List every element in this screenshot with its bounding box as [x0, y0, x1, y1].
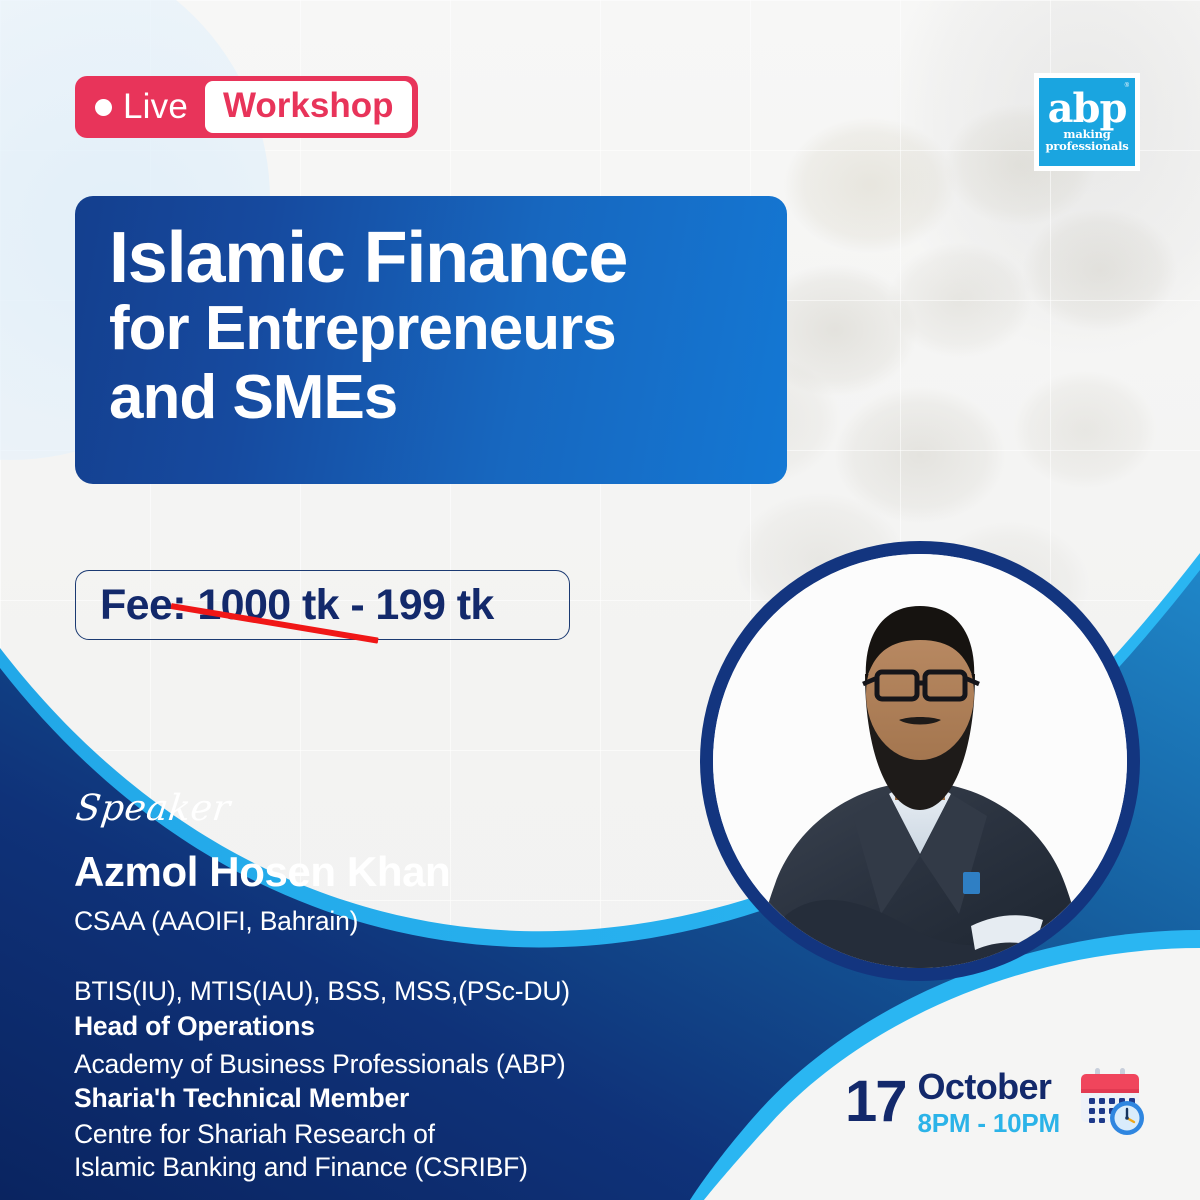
fee-text: Fee: 1000 tk - 199 tk — [100, 581, 494, 630]
speaker-section-label: Speaker — [73, 788, 232, 829]
title-line-2: for Entrepreneurs — [109, 294, 753, 363]
speaker-photo — [713, 554, 1127, 968]
title-line-3: and SMEs — [109, 363, 753, 432]
event-month: October — [918, 1069, 1061, 1105]
speaker-photo-ring — [700, 541, 1140, 981]
speaker-credential-3: Academy of Business Professionals (ABP) — [74, 1048, 566, 1081]
event-time: 8PM - 10PM — [918, 1110, 1061, 1136]
live-label: Live — [123, 87, 205, 127]
calendar-clock-icon — [1073, 1063, 1147, 1142]
abp-logo-mark: abp — [1048, 91, 1127, 128]
live-dot-icon — [95, 99, 112, 116]
abp-logo: ® abp making professionals — [1034, 73, 1140, 171]
poster-canvas: Live Workshop ® abp making professionals… — [0, 0, 1200, 1200]
live-workshop-badge: Live Workshop — [75, 76, 418, 138]
registered-trademark-icon: ® — [1125, 83, 1129, 89]
speaker-credential-5: Centre for Shariah Research of Islamic B… — [74, 1118, 528, 1185]
speaker-credential-1: BTIS(IU), MTIS(IAU), BSS, MSS,(PSc-DU) — [74, 975, 570, 1008]
speaker-name: Azmol Hosen Khan — [74, 848, 450, 896]
fee-box: Fee: 1000 tk - 199 tk — [75, 570, 570, 640]
event-date-block: 17 October 8PM - 10PM — [845, 1063, 1147, 1142]
speaker-credential-0: CSAA (AAOIFI, Bahrain) — [74, 905, 358, 938]
workshop-title-card: Islamic Finance for Entrepreneurs and SM… — [75, 196, 787, 484]
workshop-label: Workshop — [205, 81, 411, 134]
event-day: 17 — [845, 1076, 906, 1128]
abp-tagline-line2: professionals — [1045, 140, 1128, 153]
title-line-1: Islamic Finance — [109, 222, 753, 294]
speaker-credential-2: Head of Operations — [74, 1010, 315, 1043]
speaker-credential-4: Sharia'h Technical Member — [74, 1082, 409, 1115]
